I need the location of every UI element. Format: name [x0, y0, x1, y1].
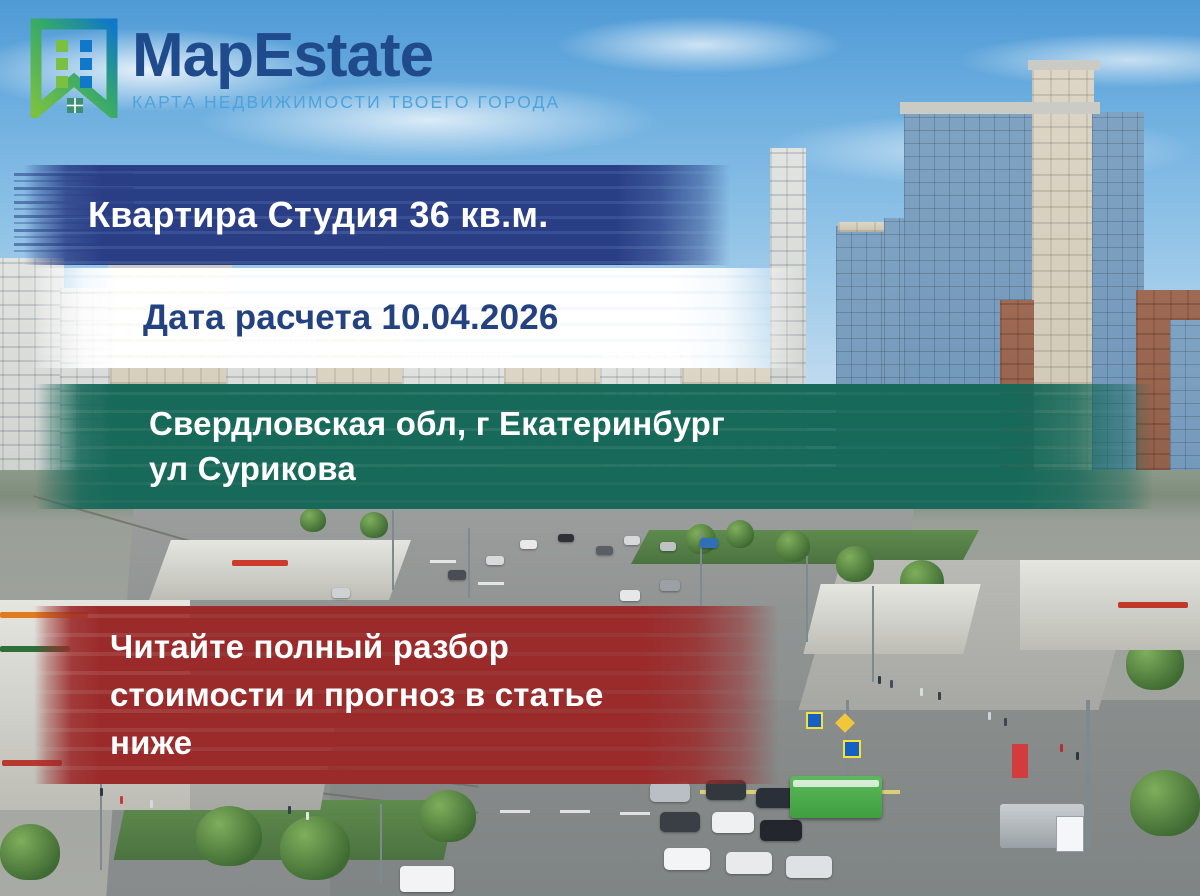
storefront — [803, 584, 980, 654]
pedestrian — [878, 676, 881, 684]
cta-line-2: стоимости и прогноз в статье — [110, 671, 604, 719]
street-light-pole — [392, 510, 394, 590]
street-light-pole — [806, 556, 808, 642]
pedestrian — [288, 806, 291, 814]
pedestrian — [1060, 744, 1063, 752]
roof-cap — [1028, 60, 1100, 70]
lane-marking — [500, 810, 530, 813]
calculation-date-text: Дата расчета 10.04.2026 — [143, 298, 559, 338]
lane-marking — [620, 812, 650, 815]
pedestrian — [1076, 752, 1079, 760]
lane-marking — [478, 582, 504, 585]
shop-awning — [232, 560, 288, 566]
banner-address: Свердловская обл, г Екатеринбург ул Сури… — [36, 384, 1153, 509]
shop-awning — [1118, 602, 1188, 608]
city-bus — [790, 776, 882, 818]
car — [620, 590, 640, 601]
car — [486, 556, 504, 565]
address-text: Свердловская обл, г Екатеринбург ул Сури… — [149, 402, 725, 491]
tree — [0, 824, 60, 880]
pedestrian — [938, 692, 941, 700]
car — [700, 538, 718, 548]
tree — [726, 520, 754, 548]
pedestrian — [100, 788, 103, 796]
address-line-2: ул Сурикова — [149, 447, 725, 492]
logo-wordmark: MapEstate — [132, 25, 560, 87]
pedestrian — [1004, 718, 1007, 726]
tree — [300, 508, 326, 532]
car — [448, 570, 466, 580]
lane-marking — [430, 560, 456, 563]
banner-apartment-type: Квартира Студия 36 кв.м. — [24, 165, 730, 265]
pedestrian — [890, 680, 893, 688]
roof-cap — [900, 102, 1100, 114]
road-sign — [806, 712, 823, 729]
pedestrian — [120, 796, 123, 804]
billboard — [1012, 744, 1028, 778]
tree — [1130, 770, 1200, 836]
apartment-title-text: Квартира Студия 36 кв.м. — [88, 194, 549, 236]
banner-calculation-date: Дата расчета 10.04.2026 — [30, 268, 802, 368]
car — [726, 852, 772, 874]
banner-call-to-action[interactable]: Читайте полный разбор стоимости и прогно… — [34, 606, 778, 784]
tree — [280, 816, 350, 880]
billboard — [1056, 816, 1084, 852]
road-sign — [843, 740, 861, 758]
tree — [420, 790, 476, 842]
street-light-pole — [1086, 700, 1090, 850]
car — [332, 588, 350, 598]
car — [664, 848, 710, 870]
cta-text: Читайте полный разбор стоимости и прогно… — [110, 623, 604, 767]
building-bookmark-icon — [30, 18, 118, 118]
car — [660, 812, 700, 832]
car — [520, 540, 537, 549]
tree — [776, 530, 810, 562]
car — [596, 546, 613, 555]
brand-logo[interactable]: MapEstate КАРТА НЕДВИЖИМОСТИ ТВОЕГО ГОРО… — [30, 18, 560, 118]
car — [660, 580, 680, 591]
logo-tagline: КАРТА НЕДВИЖИМОСТИ ТВОЕГО ГОРОДА — [132, 94, 560, 112]
tree — [836, 546, 874, 582]
car — [786, 856, 832, 878]
pedestrian — [988, 712, 991, 720]
car — [400, 866, 454, 892]
car — [760, 820, 802, 841]
pedestrian — [150, 800, 153, 808]
car — [660, 542, 676, 551]
lane-marking — [560, 810, 590, 813]
car — [624, 536, 640, 545]
tree — [196, 806, 262, 866]
street-light-pole — [872, 586, 874, 682]
pedestrian — [306, 812, 309, 820]
address-line-1: Свердловская обл, г Екатеринбург — [149, 402, 725, 447]
street-light-pole — [468, 528, 470, 598]
car — [712, 812, 754, 833]
cta-line-3: ниже — [110, 719, 604, 767]
cta-line-1: Читайте полный разбор — [110, 623, 604, 671]
pedestrian — [920, 688, 923, 696]
car — [558, 534, 574, 542]
tree — [360, 512, 388, 538]
window-icon — [67, 98, 83, 113]
promo-poster: MapEstate КАРТА НЕДВИЖИМОСТИ ТВОЕГО ГОРО… — [0, 0, 1200, 896]
street-light-pole — [380, 804, 382, 884]
storefront — [149, 540, 411, 600]
car — [650, 782, 690, 802]
